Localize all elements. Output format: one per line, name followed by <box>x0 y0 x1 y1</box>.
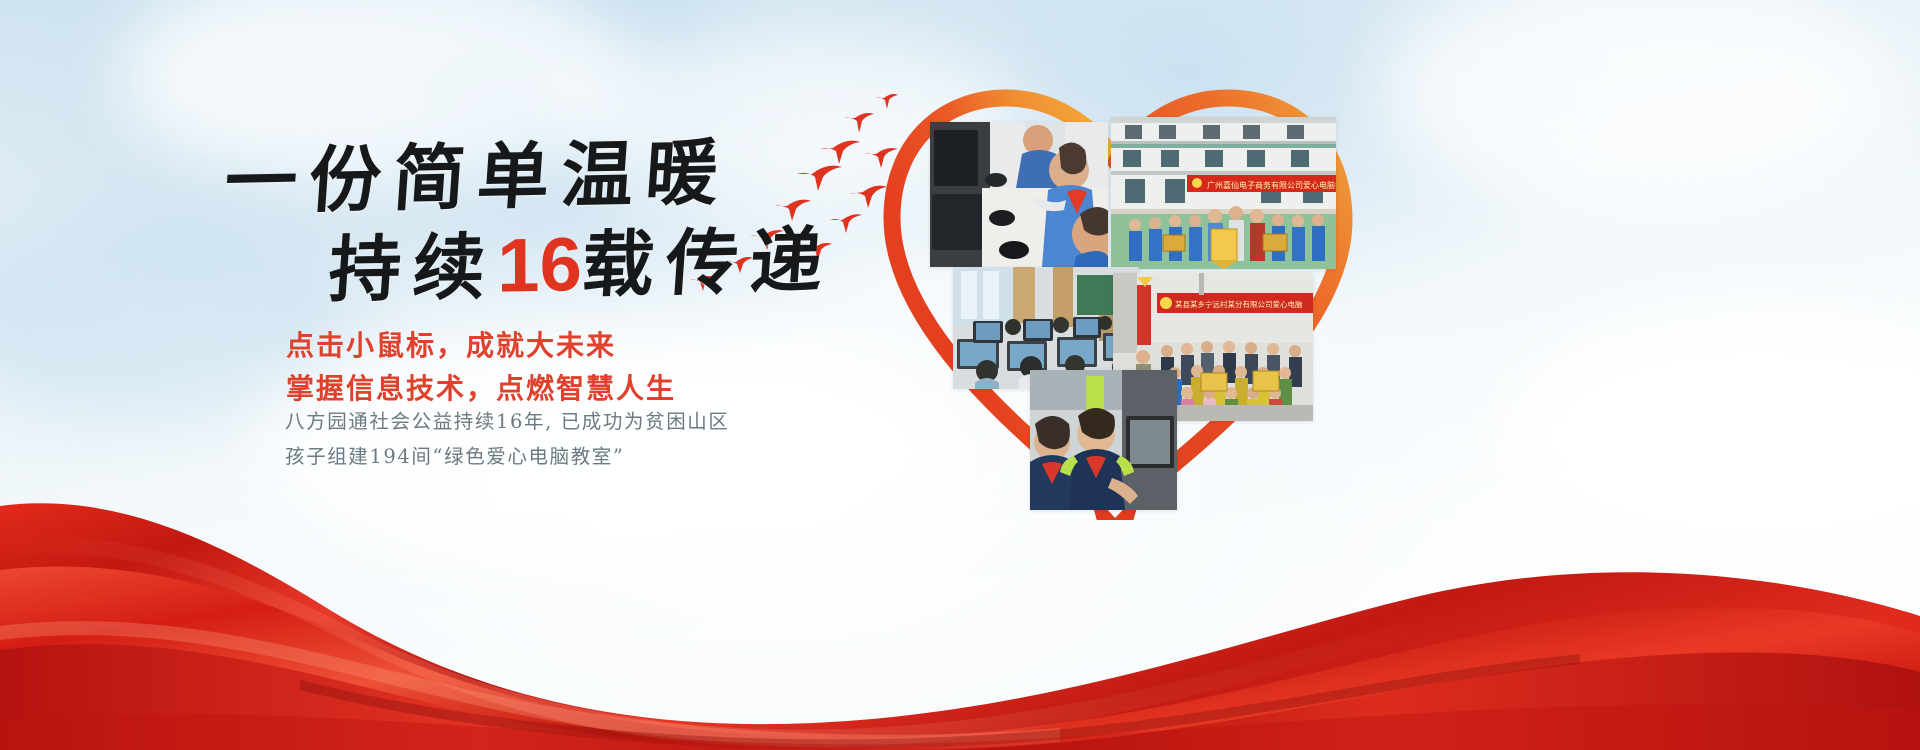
promo-banner: 一份简单温暖 持续16载传递 点击小鼠标，成就大未来 掌握信息技术，点燃智慧人生… <box>0 0 1920 750</box>
ribbon-wave-artwork <box>0 420 1920 750</box>
headline-line-2-prefix: 持续 <box>326 224 500 312</box>
subtitle-line-1: 点击小鼠标，成就大未来 <box>286 325 676 368</box>
headline-line-1: 一份简单温暖 <box>223 131 989 218</box>
red-silk-ribbon-wave <box>0 420 1920 750</box>
subtitle-block: 点击小鼠标，成就大未来 掌握信息技术，点燃智慧人生 <box>286 325 676 410</box>
subtitle-line-2: 掌握信息技术，点燃智慧人生 <box>286 368 676 411</box>
headline-line-2-suffix: 载传递 <box>579 217 837 307</box>
headline-years-number: 16 <box>497 227 582 305</box>
photo-b-artwork: 广州嘉仙电子商务有限公司爱心电脑捐赠仪式 <box>1111 117 1336 269</box>
headline-block: 一份简单温暖 持续16载传递 <box>225 146 985 308</box>
svg-text:某县某乡宁远村某分有限公司爱心电脑: 某县某乡宁远村某分有限公司爱心电脑 <box>1175 299 1303 309</box>
headline-line-2: 持续16载传递 <box>326 219 988 308</box>
photo-school-donation-ceremony-outdoor: 广州嘉仙电子商务有限公司爱心电脑捐赠仪式 <box>1111 117 1336 269</box>
svg-text:广州嘉仙电子商务有限公司爱心电脑捐赠仪式: 广州嘉仙电子商务有限公司爱心电脑捐赠仪式 <box>1207 180 1336 190</box>
